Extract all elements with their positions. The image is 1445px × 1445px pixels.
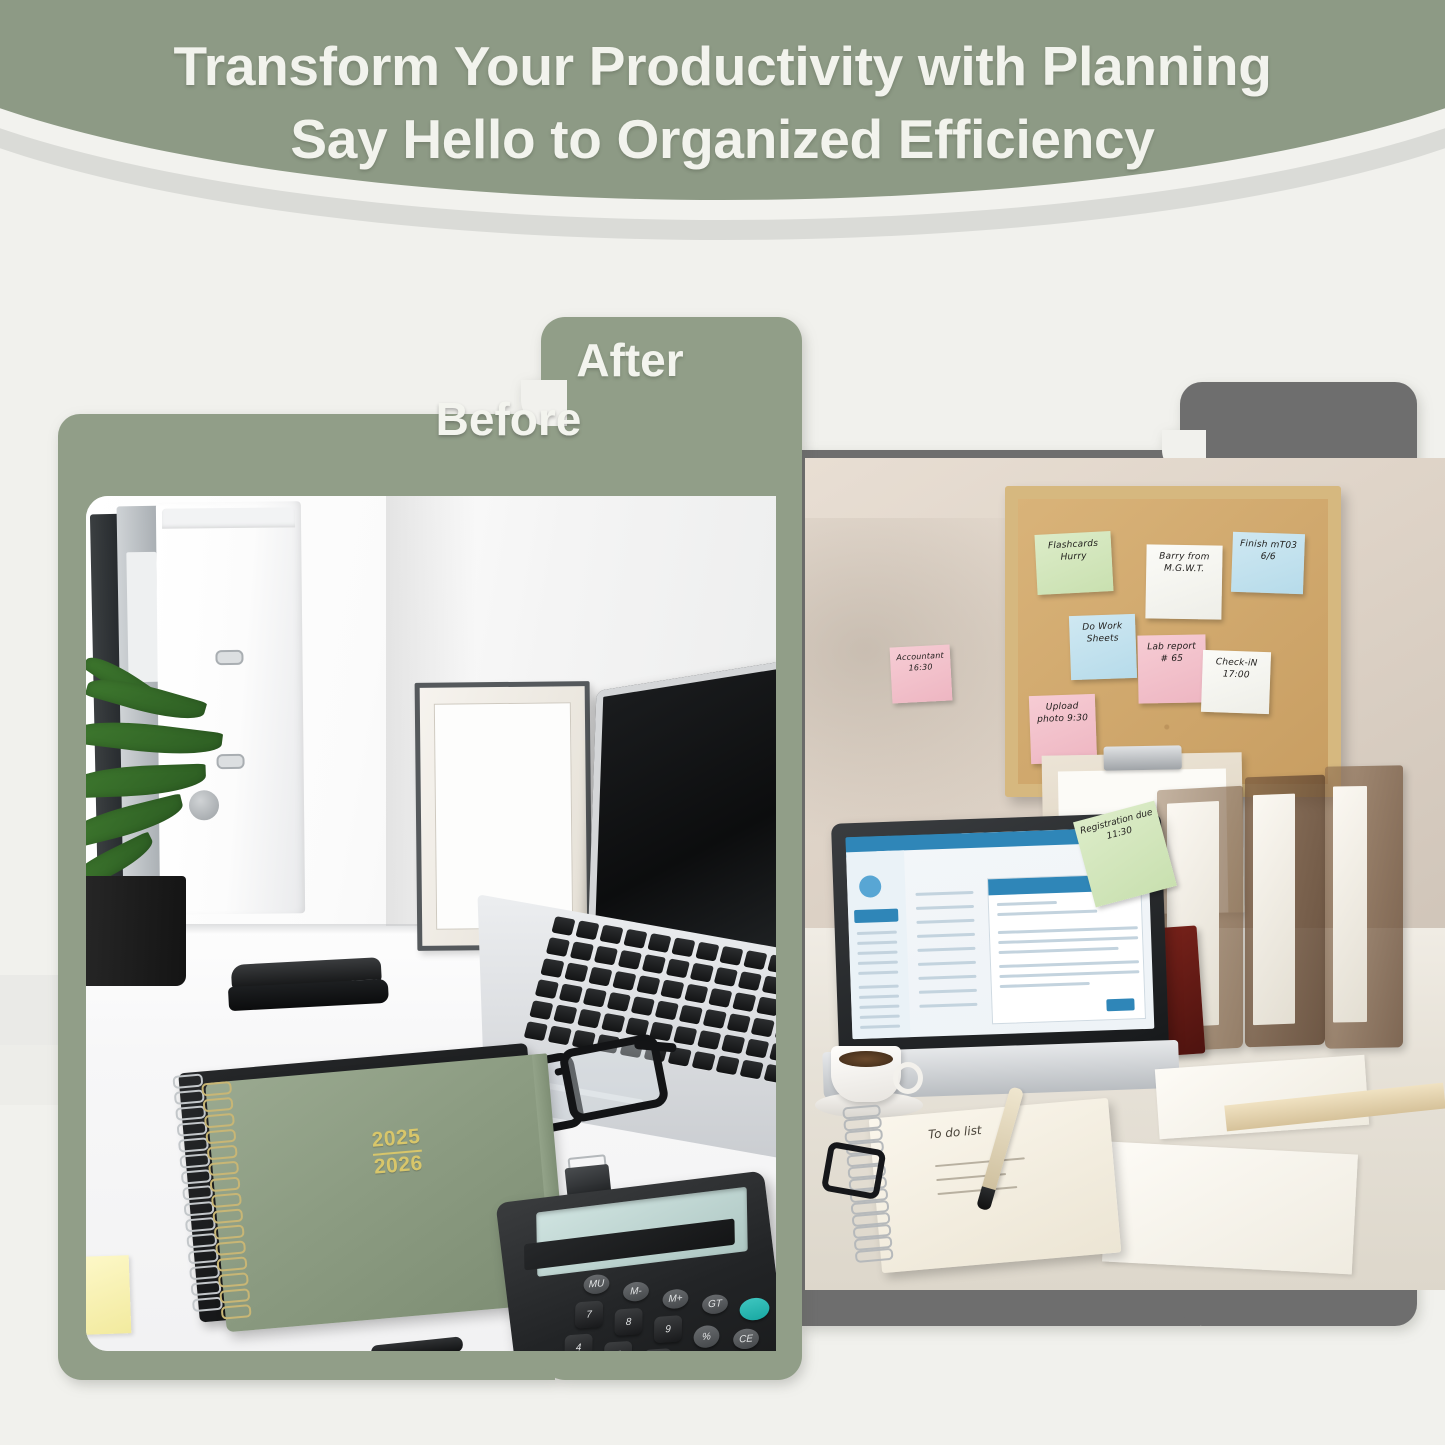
planner-year-stamp: 2025 2026 <box>371 1125 424 1179</box>
yellow-sticky-note <box>86 1255 131 1335</box>
sticky-note-worksheets: Do Work Sheets <box>1069 614 1137 680</box>
loose-paper-2 <box>1102 1142 1358 1275</box>
after-photo: 2025 2026 MU M- M+ GT 7 8 9 % CE <box>86 496 776 1351</box>
sticky-note-flashcards: Flashcards Hurry <box>1034 531 1113 595</box>
sticky-note-accountant: Accountant 16:30 <box>890 644 953 703</box>
sticky-note-checkin: Check-iN 17:00 <box>1201 650 1271 714</box>
sticky-note-lab-report: Lab report # 65 <box>1137 634 1206 703</box>
page-title: Transform Your Productivity with Plannin… <box>0 30 1445 176</box>
stapler <box>227 957 390 1017</box>
before-photo: Flashcards Hurry Barry from M.G.W.T. Fin… <box>805 458 1445 1290</box>
plant-pot <box>86 876 186 986</box>
aloe-plant <box>86 666 266 956</box>
after-label: After <box>500 333 760 387</box>
file-holder-2 <box>1245 775 1325 1048</box>
todo-notebook-title: To do list <box>928 1123 982 1142</box>
page-title-line2: Say Hello to Organized Efficiency <box>0 103 1445 176</box>
calculator: MU M- M+ GT 7 8 9 % CE 4 5 6 ÷ ◀ 1 2 3 ×… <box>495 1171 776 1351</box>
sticky-note-upload-photo: Upload photo 9:30 <box>1029 694 1097 764</box>
planner-year-bottom: 2026 <box>373 1151 424 1178</box>
sticky-note-barry: Barry from M.G.W.T. <box>1145 544 1222 619</box>
page-title-line1: Transform Your Productivity with Plannin… <box>173 35 1271 97</box>
poster-canvas: Transform Your Productivity with Plannin… <box>0 0 1445 1445</box>
sticky-note-finish: Finish mT03 6/6 <box>1231 532 1305 594</box>
file-holder-3 <box>1325 765 1403 1048</box>
before-label: Before <box>390 392 627 446</box>
planner-notebook: 2025 2026 <box>160 1040 564 1351</box>
